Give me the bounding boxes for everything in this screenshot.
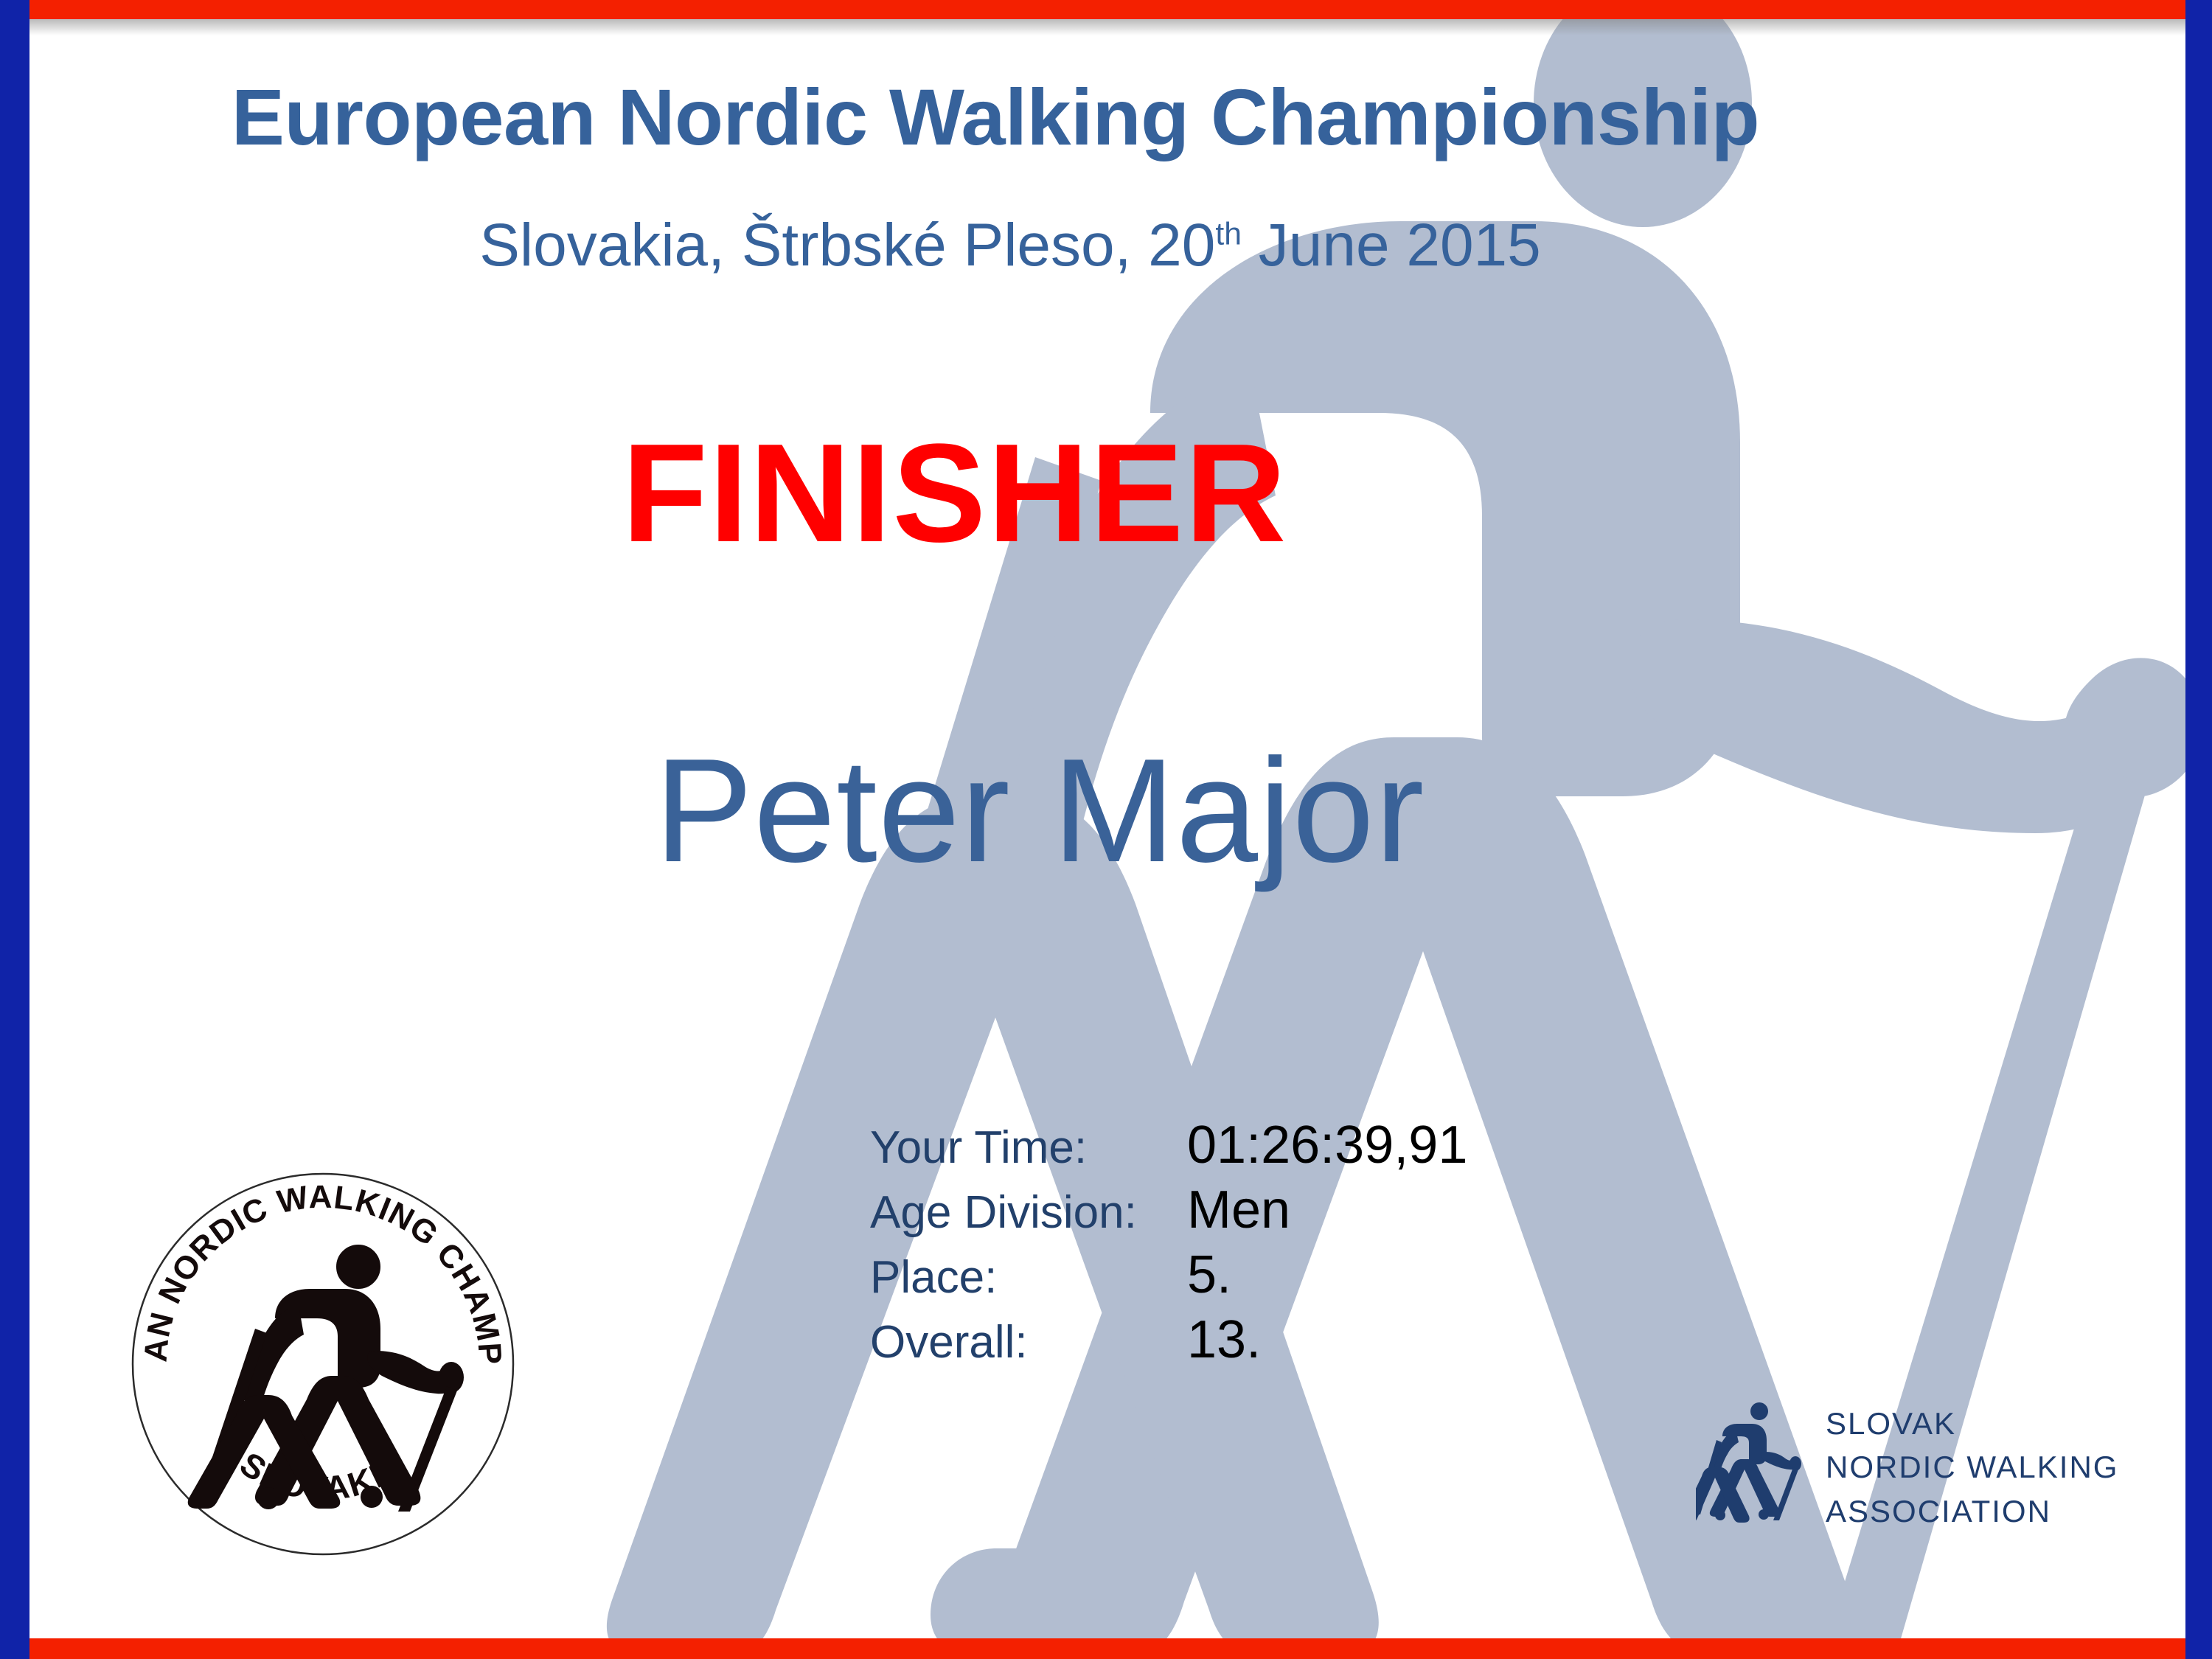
association-line-3: ASSOCIATION	[1826, 1489, 2118, 1534]
result-label: Age Division:	[870, 1186, 1187, 1239]
border-band-top	[0, 0, 2212, 19]
nordic-walker-icon	[1696, 1394, 1806, 1541]
athlete-name: Peter Major	[0, 726, 2212, 896]
association-line-2: NORDIC WALKING	[1826, 1445, 2118, 1489]
association-logo: SLOVAK NORDIC WALKING ASSOCIATION	[1696, 1386, 2153, 1548]
result-value: Men	[1187, 1180, 1290, 1240]
result-value: 13.	[1187, 1310, 1261, 1370]
championship-emblem: EUROPEAN NORDIC WALKING CHAMPIONSHIP SLO…	[124, 1165, 522, 1563]
association-line-1: SLOVAK	[1826, 1402, 2118, 1446]
result-row-age-division: Age Division: Men	[870, 1180, 1467, 1245]
event-subtitle: Slovakia, Štrbské Pleso, 20th June 2015	[0, 211, 2020, 280]
border-band-bottom	[0, 1638, 2212, 1659]
award-label: FINISHER	[0, 413, 2212, 574]
subtitle-ordinal: th	[1215, 217, 1242, 252]
border-band-right	[2185, 0, 2212, 1659]
certificate: European Nordic Walking Championship Slo…	[0, 0, 2212, 1659]
result-value: 5.	[1187, 1245, 1231, 1305]
result-label: Place:	[870, 1251, 1187, 1304]
results-block: Your Time: 01:26:39,91 Age Division: Men…	[870, 1115, 1467, 1374]
result-label: Your Time:	[870, 1121, 1187, 1174]
result-value: 01:26:39,91	[1187, 1115, 1467, 1175]
subtitle-prefix: Slovakia, Štrbské Pleso, 20	[479, 212, 1215, 279]
subtitle-suffix: June 2015	[1242, 212, 1541, 279]
certificate-content: European Nordic Walking Championship Slo…	[0, 0, 2212, 1659]
association-name: SLOVAK NORDIC WALKING ASSOCIATION	[1826, 1402, 2118, 1534]
result-label: Overall:	[870, 1316, 1187, 1368]
result-row-overall: Overall: 13.	[870, 1310, 1467, 1374]
result-row-place: Place: 5.	[870, 1245, 1467, 1310]
border-band-left	[0, 0, 29, 1659]
page-title: European Nordic Walking Championship	[0, 71, 1991, 163]
result-row-your-time: Your Time: 01:26:39,91	[870, 1115, 1467, 1180]
